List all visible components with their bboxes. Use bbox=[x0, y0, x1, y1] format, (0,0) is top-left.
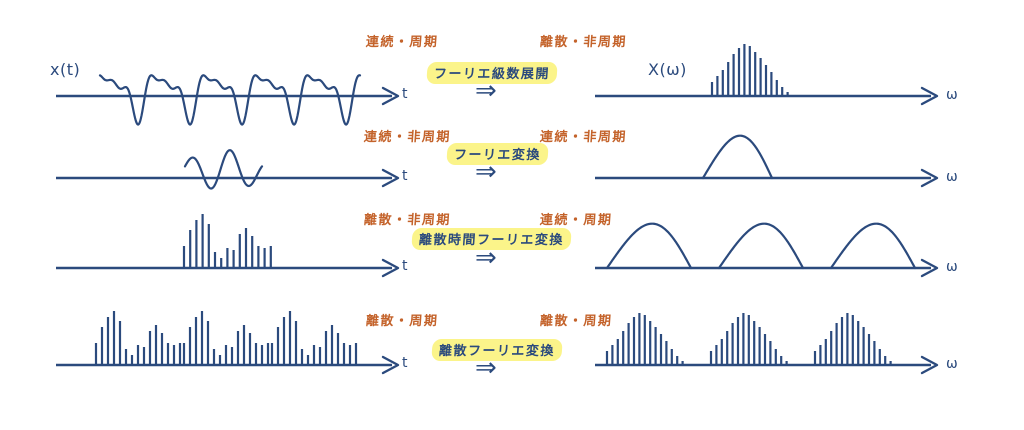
signal-row2-time-domain bbox=[185, 150, 262, 188]
left-property-row2: 連続・非周期 bbox=[363, 126, 451, 145]
frequency-axis-variable-row4: ω bbox=[946, 356, 958, 372]
signal-row3-frequency-domain bbox=[607, 224, 915, 268]
left-property-row4: 離散・周期 bbox=[365, 310, 439, 329]
left-property-row3: 離散・非周期 bbox=[363, 209, 451, 228]
signal-row1-frequency-domain bbox=[712, 44, 788, 96]
transform-label-row4: 離散フーリエ変換 bbox=[431, 339, 563, 361]
right-property-row4: 離散・周期 bbox=[539, 310, 613, 329]
transform-arrow-row3: ⇒ bbox=[475, 245, 497, 271]
transform-label-row2: フーリエ変換 bbox=[446, 143, 549, 165]
transform-arrow-row2: ⇒ bbox=[475, 159, 497, 185]
left-property-row1: 連続・周期 bbox=[365, 31, 439, 50]
time-axis-variable-row3: t bbox=[402, 258, 408, 274]
signal-row4-time-domain bbox=[96, 311, 356, 365]
signal-row3-time-domain bbox=[184, 214, 271, 268]
frequency-axis-variable-row2: ω bbox=[946, 169, 958, 185]
transform-arrow-row4: ⇒ bbox=[475, 355, 497, 381]
time-signal-label: x(t) bbox=[50, 60, 80, 79]
frequency-axis-variable-row3: ω bbox=[946, 259, 958, 275]
right-property-row2: 連続・非周期 bbox=[539, 126, 627, 145]
transform-arrow-row1: ⇒ bbox=[475, 78, 497, 104]
signal-row4-frequency-domain bbox=[607, 313, 891, 365]
time-axis-variable-row1: t bbox=[402, 86, 408, 102]
time-axis-variable-row2: t bbox=[402, 168, 408, 184]
signal-plots-group bbox=[96, 44, 915, 365]
frequency-signal-label: X(ω) bbox=[648, 60, 687, 79]
signal-row2-frequency-domain bbox=[703, 136, 772, 178]
right-property-row1: 離散・非周期 bbox=[539, 31, 627, 50]
signal-row1-time-domain bbox=[100, 75, 360, 124]
frequency-axis-variable-row1: ω bbox=[946, 87, 958, 103]
time-axis-variable-row4: t bbox=[402, 355, 408, 371]
right-property-row3: 連続・周期 bbox=[539, 209, 613, 228]
